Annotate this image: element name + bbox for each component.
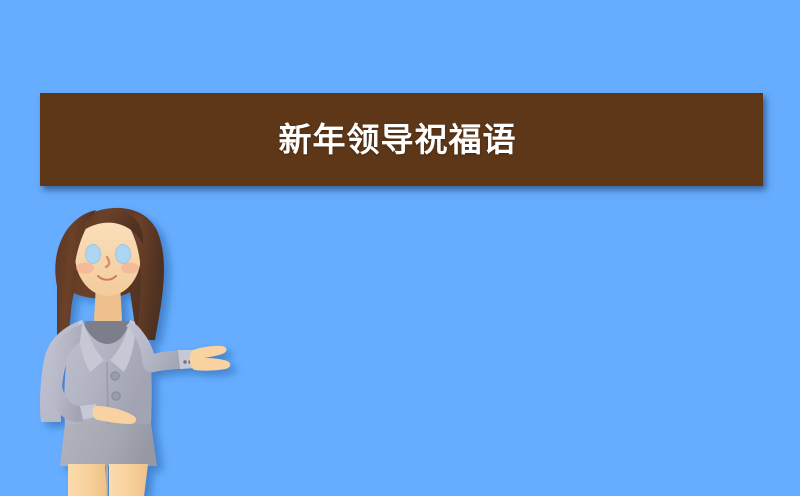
leg-left <box>68 464 107 496</box>
poster-canvas: 新年领导祝福语 <box>0 0 800 496</box>
figure-group <box>40 208 230 496</box>
blush-left <box>76 263 94 274</box>
page-title: 新年领导祝福语 <box>279 123 517 156</box>
cuff-button-right-1 <box>183 360 186 363</box>
leg-right <box>109 464 148 496</box>
blush-right <box>121 263 139 274</box>
eye-left <box>86 245 101 264</box>
skirt <box>60 424 157 466</box>
businesswoman-illustration <box>30 200 245 496</box>
eye-right <box>116 245 131 264</box>
jacket-button-2 <box>112 392 120 400</box>
jacket-button-1 <box>111 372 119 380</box>
hand-right <box>190 346 230 371</box>
title-banner: 新年领导祝福语 <box>40 93 763 186</box>
